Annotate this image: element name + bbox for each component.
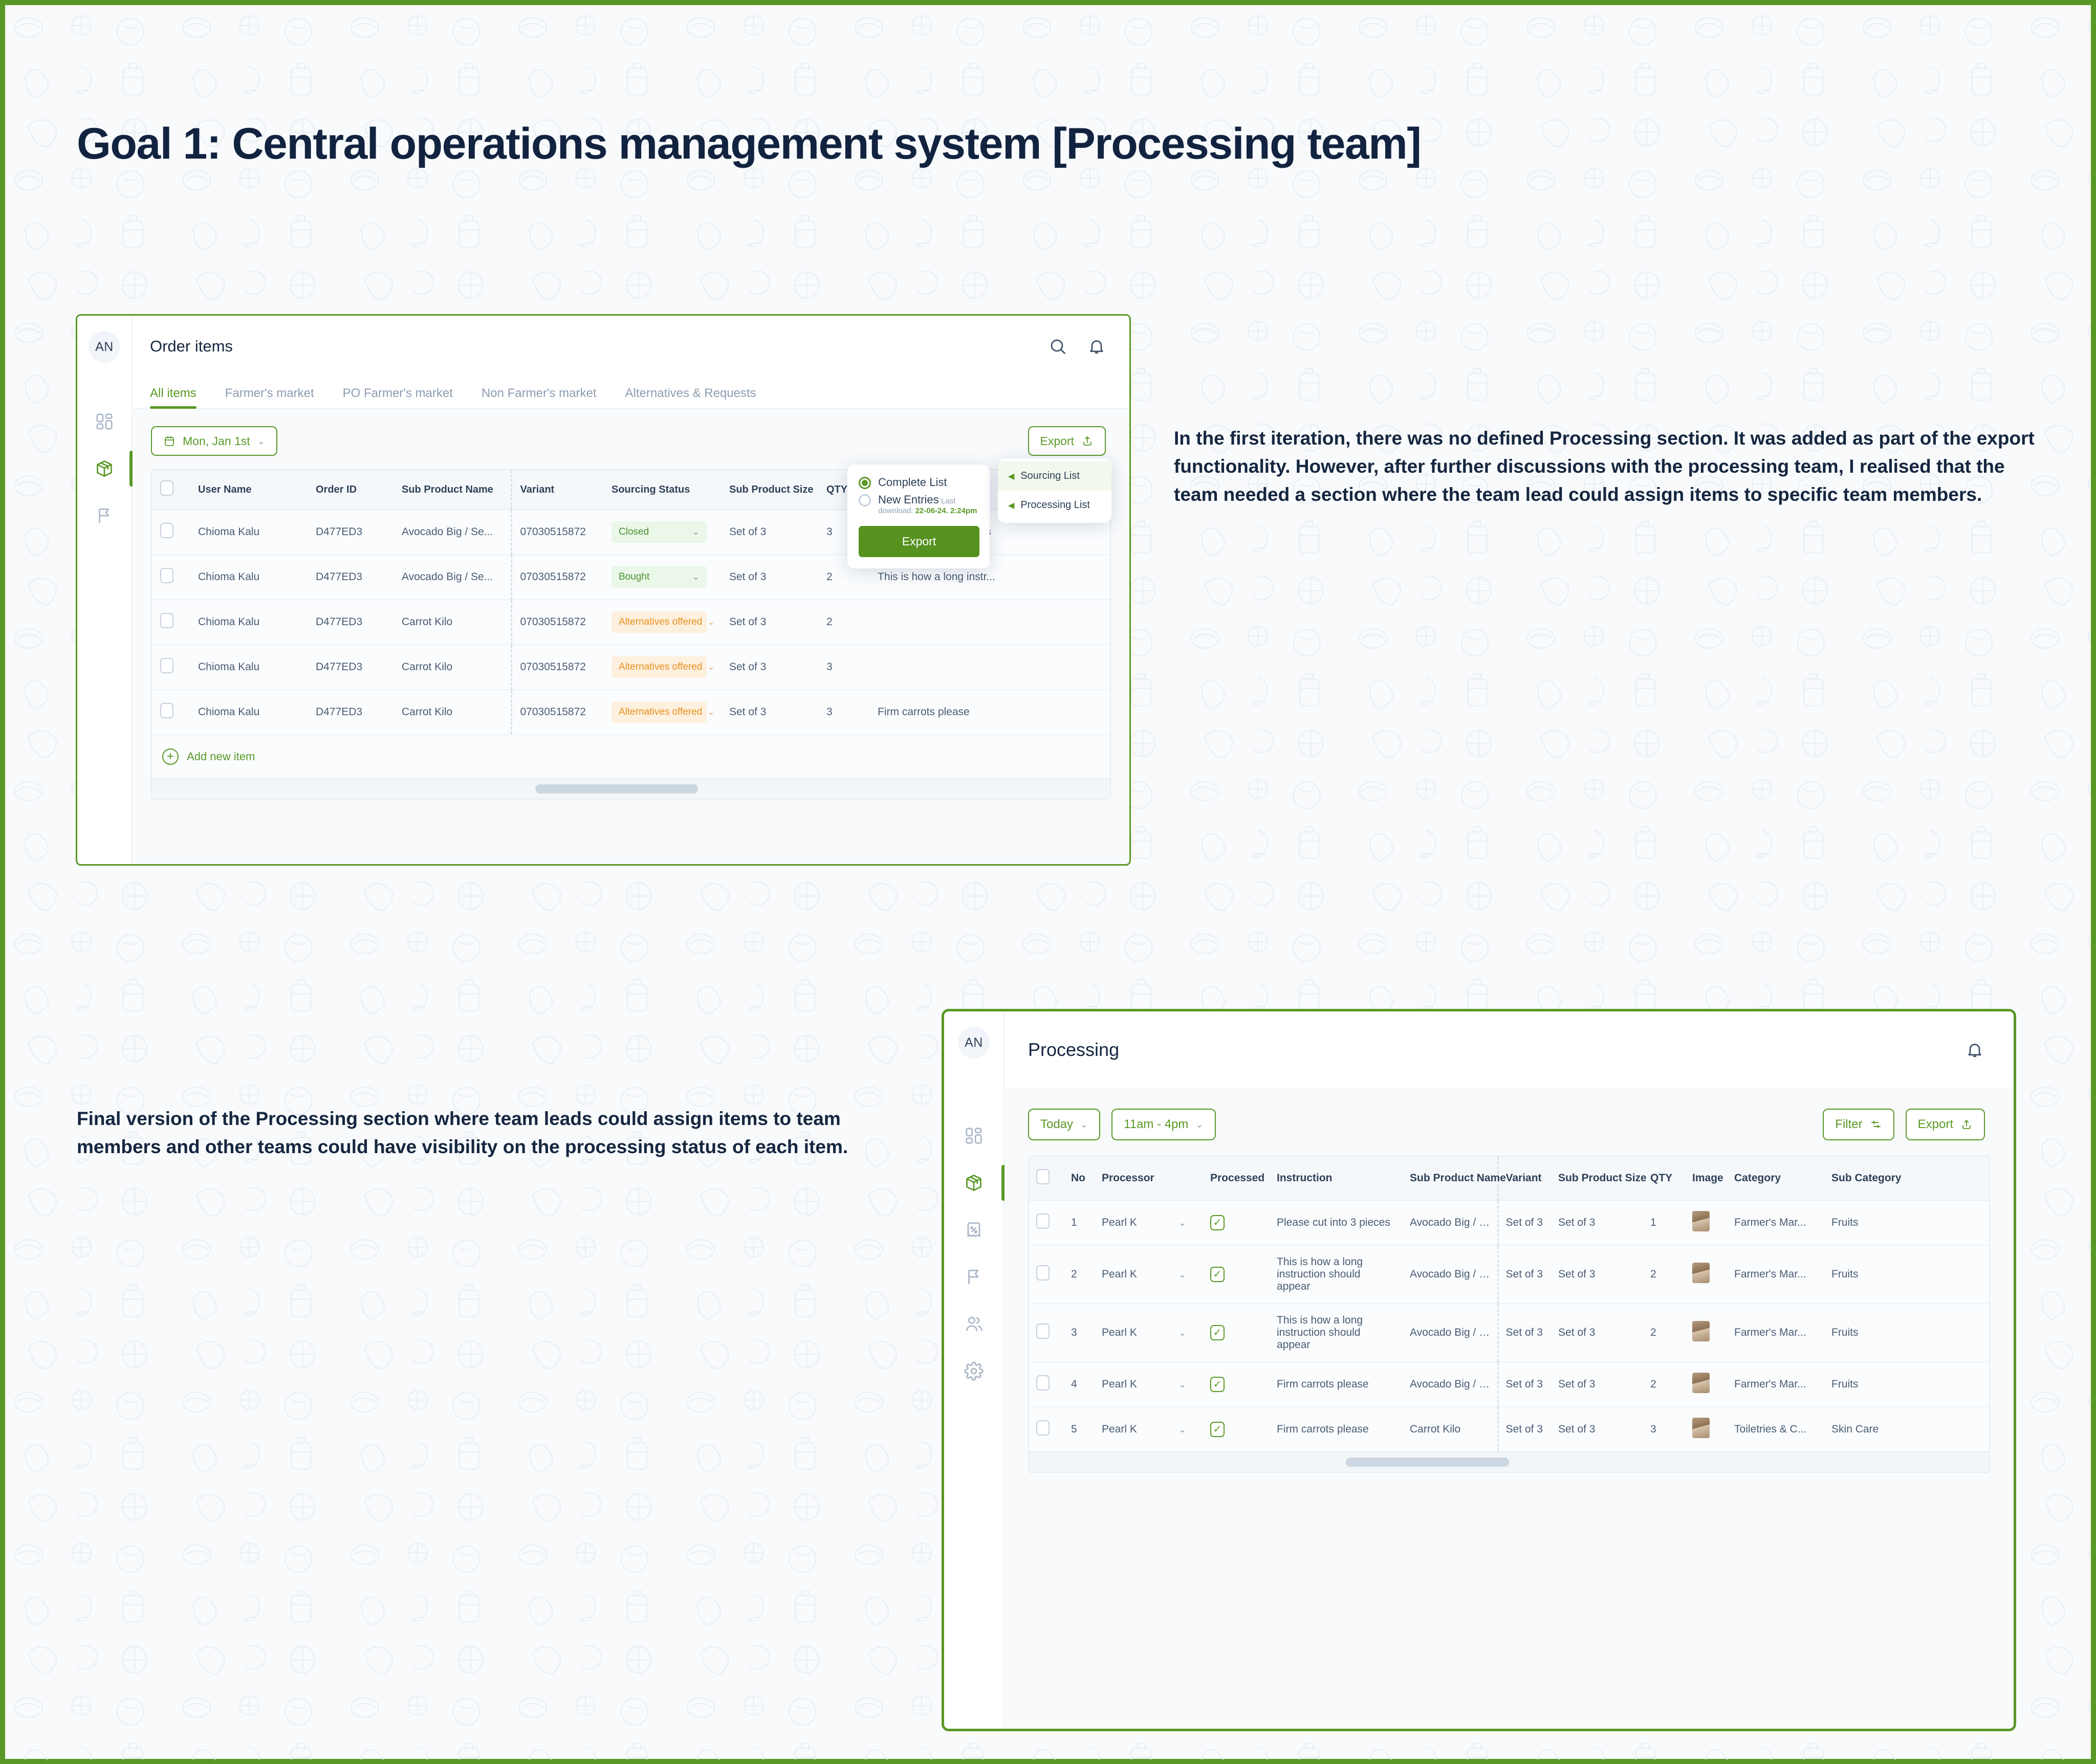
cell-no: 1: [1064, 1200, 1095, 1245]
scrollbar-thumb[interactable]: [1346, 1458, 1509, 1467]
col-qty: QTY: [1643, 1157, 1685, 1200]
menu-item-processing-list[interactable]: ◀ Processing List: [998, 491, 1111, 520]
description-final-version: Final version of the Processing section …: [77, 1105, 875, 1161]
add-new-item-label: Add new item: [187, 750, 255, 763]
row-checkbox[interactable]: [1036, 1375, 1050, 1391]
filter-sliders-icon: [1870, 1118, 1882, 1131]
table-row[interactable]: 5 Pearl K ⌄ ✓ Firm carrots please Carrot…: [1029, 1407, 1989, 1451]
cell-sub-product-name: Carrot Kilo: [394, 645, 511, 690]
avatar[interactable]: AN: [958, 1027, 990, 1059]
menu-item-label: Sourcing List: [1020, 470, 1080, 482]
settings-gear-icon: [964, 1361, 984, 1381]
status-badge[interactable]: Alternatives offered ⌄: [612, 701, 707, 723]
col-sourcing-status: Sourcing Status: [603, 470, 721, 510]
chevron-down-icon: ⌄: [707, 662, 714, 672]
col-instruction: Instruction: [1270, 1157, 1403, 1200]
order-items-main: Order items All items Farmer's market PO…: [133, 316, 1129, 864]
sidebar-item-flags[interactable]: [77, 506, 132, 525]
users-icon: [964, 1314, 984, 1334]
col-image: Image: [1685, 1157, 1727, 1200]
processing-table: No Processor Processed Instruction Sub P…: [1028, 1156, 1990, 1473]
cell-sub-product-name: Avocado Big / Se...: [1403, 1245, 1498, 1304]
cell-sub-product-name: Carrot Kilo: [394, 690, 511, 734]
radio-unselected-icon[interactable]: [859, 494, 871, 506]
sidebar-item-flags[interactable]: [944, 1267, 1003, 1287]
cell-sub-product-size: Set of 3: [1551, 1362, 1643, 1407]
chevron-down-icon: ⌄: [1178, 1328, 1186, 1338]
scrollbar-thumb[interactable]: [535, 784, 698, 793]
horizontal-scrollbar[interactable]: [152, 778, 1110, 799]
chevron-down-icon: ⌄: [1178, 1218, 1186, 1228]
row-checkbox-cell: [152, 555, 190, 600]
cell-no: 5: [1064, 1407, 1095, 1451]
order-items-header: Order items: [133, 316, 1129, 377]
flag-icon: [95, 506, 114, 525]
col-category: Category: [1727, 1157, 1824, 1200]
cell-sourcing-status[interactable]: Alternatives offered ⌄: [603, 645, 721, 690]
cell-variant: 07030515872: [511, 510, 603, 555]
cell-processor: Pearl K: [1095, 1245, 1171, 1304]
cell-variant: Set of 3: [1498, 1407, 1551, 1451]
row-checkbox-cell: [152, 510, 190, 555]
avatar[interactable]: AN: [89, 331, 120, 363]
select-all-checkbox[interactable]: [160, 480, 173, 496]
row-checkbox-cell: [1029, 1304, 1064, 1362]
cell-variant: Set of 3: [1498, 1362, 1551, 1407]
chevron-down-icon: ⌄: [1178, 1424, 1186, 1435]
processor-dropdown-caret[interactable]: ⌄: [1171, 1245, 1203, 1304]
cell-order-id: D477ED3: [308, 645, 394, 690]
cell-category: Farmer's Mar...: [1727, 1245, 1824, 1304]
date-filter-label: Mon, Jan 1st: [183, 434, 250, 448]
cell-sub-product-name: Carrot Kilo: [1403, 1407, 1498, 1451]
processing-toolbar: Today ⌄ 11am - 4pm ⌄ Filter Export: [1005, 1088, 2014, 1156]
tab-all-items[interactable]: All items: [150, 386, 196, 408]
cell-variant: Set of 3: [1498, 1304, 1551, 1362]
last-download-value: 22-06-24. 2:24pm: [915, 506, 977, 515]
cell-qty: 3: [1643, 1407, 1685, 1451]
product-thumbnail: [1692, 1263, 1710, 1283]
export-option-new-entries[interactable]: New Entries Last download: 22-06-24. 2:2…: [859, 493, 979, 516]
select-all-checkbox[interactable]: [1036, 1169, 1050, 1184]
row-checkbox-cell: [152, 690, 190, 734]
cell-order-id: D477ED3: [308, 510, 394, 555]
cell-image: [1685, 1362, 1727, 1407]
cell-instruction: Firm carrots please: [1270, 1362, 1403, 1407]
cell-image: [1685, 1200, 1727, 1245]
cell-sub-category: Skin Care: [1824, 1407, 1989, 1451]
cell-user-name: Chioma Kalu: [190, 600, 308, 645]
cell-sub-category: Fruits: [1824, 1304, 1989, 1362]
sidebar-item-settings[interactable]: [944, 1361, 1003, 1381]
upload-icon: [1960, 1118, 1973, 1131]
filter-button-label: Filter: [1835, 1117, 1862, 1132]
cell-qty: 1: [1643, 1200, 1685, 1245]
table-row[interactable]: 1 Pearl K ⌄ ✓ Please cut into 3 pieces A…: [1029, 1200, 1989, 1245]
row-checkbox[interactable]: [160, 523, 173, 538]
cell-processor: Pearl K: [1095, 1362, 1171, 1407]
table-row[interactable]: Chioma Kalu D477ED3 Carrot Kilo 07030515…: [152, 645, 1110, 690]
table-row[interactable]: 3 Pearl K ⌄ ✓ This is how a long instruc…: [1029, 1304, 1989, 1362]
table-header-row: No Processor Processed Instruction Sub P…: [1029, 1157, 1989, 1200]
status-label: Bought: [619, 571, 649, 583]
processed-checkbox-checked[interactable]: ✓: [1210, 1267, 1225, 1282]
chevron-down-icon: ⌄: [692, 572, 700, 582]
cell-variant: 07030515872: [511, 690, 603, 734]
cell-processor: Pearl K: [1095, 1304, 1171, 1362]
cell-variant: 07030515872: [511, 600, 603, 645]
export-button[interactable]: Export: [1906, 1109, 1985, 1140]
cell-sub-product-size: Set of 3: [1551, 1200, 1643, 1245]
status-badge[interactable]: Bought ⌄: [612, 566, 707, 588]
chevron-down-icon: ⌄: [1178, 1269, 1186, 1280]
processor-dropdown-caret[interactable]: ⌄: [1171, 1304, 1203, 1362]
chevron-down-icon: ⌄: [692, 527, 700, 537]
export-button[interactable]: Export: [1028, 426, 1106, 456]
cell-variant: 07030515872: [511, 645, 603, 690]
col-variant: Variant: [1498, 1157, 1551, 1200]
cell-sourcing-status[interactable]: Alternatives offered ⌄: [603, 600, 721, 645]
cell-instruction: Please cut into 3 pieces: [1270, 1200, 1403, 1245]
cell-instruction: [869, 645, 1110, 690]
cell-sub-product-name: Avocado Big / Se...: [394, 555, 511, 600]
processed-checkbox-checked[interactable]: ✓: [1210, 1422, 1225, 1437]
processor-dropdown-caret[interactable]: ⌄: [1171, 1200, 1203, 1245]
col-order-id: Order ID: [308, 470, 394, 510]
cell-sub-category: Fruits: [1824, 1200, 1989, 1245]
package-icon: [95, 459, 114, 478]
dashboard-grid-icon: [95, 412, 114, 431]
col-variant: Variant: [511, 470, 603, 510]
cell-sub-category: Fruits: [1824, 1362, 1989, 1407]
cell-sub-product-size: Set of 3: [1551, 1245, 1643, 1304]
cell-sub-category: Fruits: [1824, 1245, 1989, 1304]
processed-checkbox-checked[interactable]: ✓: [1210, 1325, 1225, 1340]
select-all-header: [152, 470, 190, 510]
processing-main: Processing Today ⌄ 11am - 4pm ⌄: [1005, 1011, 2014, 1729]
order-items-tabs: All items Farmer's market PO Farmer's ma…: [133, 377, 1129, 409]
cell-sub-product-size: Set of 3: [721, 510, 818, 555]
cell-sub-product-size: Set of 3: [721, 690, 818, 734]
cell-qty: 2: [1643, 1304, 1685, 1362]
processing-table-wrap: No Processor Processed Instruction Sub P…: [1005, 1156, 2014, 1729]
cell-sub-product-size: Set of 3: [721, 600, 818, 645]
cell-user-name: Chioma Kalu: [190, 645, 308, 690]
row-checkbox-cell: [152, 645, 190, 690]
cell-variant: Set of 3: [1498, 1200, 1551, 1245]
cell-user-name: Chioma Kalu: [190, 555, 308, 600]
cell-processed[interactable]: ✓: [1203, 1407, 1270, 1451]
cell-processor: Pearl K: [1095, 1407, 1171, 1451]
export-button-label: Export: [1040, 434, 1074, 448]
status-label: Alternatives offered: [619, 661, 702, 673]
row-checkbox[interactable]: [1036, 1324, 1050, 1339]
cell-sourcing-status[interactable]: Closed ⌄: [603, 510, 721, 555]
row-checkbox[interactable]: [160, 658, 173, 673]
bell-icon[interactable]: [1966, 1041, 1984, 1059]
export-list-menu: ◀ Sourcing List ◀ Processing List: [998, 458, 1111, 523]
cell-user-name: Chioma Kalu: [190, 510, 308, 555]
order-items-sidebar: AN: [77, 316, 133, 864]
cell-sub-product-name: Carrot Kilo: [394, 600, 511, 645]
flag-icon: [964, 1267, 984, 1287]
tab-alternatives-requests[interactable]: Alternatives & Requests: [625, 386, 756, 408]
upload-icon: [1081, 435, 1094, 447]
row-checkbox-cell: [152, 600, 190, 645]
export-option-complete-list[interactable]: Complete List: [859, 476, 979, 489]
chevron-down-icon: ⌄: [1195, 1119, 1203, 1130]
table-row[interactable]: Chioma Kalu D477ED3 Carrot Kilo 07030515…: [152, 600, 1110, 645]
cell-no: 2: [1064, 1245, 1095, 1304]
sidebar-item-discounts[interactable]: [944, 1220, 1003, 1240]
cell-processed[interactable]: ✓: [1203, 1304, 1270, 1362]
cell-order-id: D477ED3: [308, 690, 394, 734]
status-badge[interactable]: Alternatives offered ⌄: [612, 656, 707, 678]
col-sub-product-size: Sub Product Size: [721, 470, 818, 510]
sidebar-item-orders[interactable]: [77, 459, 132, 478]
row-checkbox-cell: [1029, 1245, 1064, 1304]
cell-sub-product-name: Avocado Big / Se...: [1403, 1304, 1498, 1362]
status-badge[interactable]: Alternatives offered ⌄: [612, 611, 707, 633]
col-sub-product-name: Sub Product Name: [394, 470, 511, 510]
cell-sourcing-status[interactable]: Alternatives offered ⌄: [603, 690, 721, 734]
cell-no: 4: [1064, 1362, 1095, 1407]
status-label: Closed: [619, 526, 649, 538]
bell-icon[interactable]: [1087, 337, 1106, 356]
day-filter-label: Today: [1040, 1117, 1073, 1132]
cell-category: Farmer's Mar...: [1727, 1304, 1824, 1362]
page-title: Goal 1: Central operations management sy…: [77, 119, 1421, 169]
cell-sourcing-status[interactable]: Bought ⌄: [603, 555, 721, 600]
cell-user-name: Chioma Kalu: [190, 690, 308, 734]
description-first-iteration: In the first iteration, there was no def…: [1174, 425, 2039, 509]
cell-sub-product-size: Set of 3: [1551, 1407, 1643, 1451]
search-icon[interactable]: [1049, 337, 1067, 356]
processed-checkbox-checked[interactable]: ✓: [1210, 1377, 1225, 1392]
row-checkbox[interactable]: [160, 703, 173, 718]
cell-sub-product-name: Avocado Big / Se...: [394, 510, 511, 555]
day-filter-button[interactable]: Today ⌄: [1028, 1109, 1100, 1140]
cell-sub-product-name: Avocado Big / Se...: [1403, 1200, 1498, 1245]
sidebar-item-dashboard[interactable]: [944, 1126, 1003, 1145]
processor-dropdown-caret[interactable]: ⌄: [1171, 1407, 1203, 1451]
tab-po-farmers-market[interactable]: PO Farmer's market: [343, 386, 453, 408]
cell-qty: 3: [818, 690, 869, 734]
chevron-down-icon: ⌄: [707, 617, 714, 627]
status-label: Alternatives offered: [619, 707, 702, 718]
chevron-down-icon: ⌄: [1178, 1379, 1186, 1390]
cell-sub-product-size: Set of 3: [1551, 1304, 1643, 1362]
page-root: Goal 1: Central operations management sy…: [5, 5, 2091, 1759]
cell-instruction: [869, 600, 1110, 645]
row-checkbox-cell: [1029, 1200, 1064, 1245]
product-thumbnail: [1692, 1418, 1710, 1438]
chevron-down-icon: ⌄: [257, 436, 265, 447]
sidebar-item-dashboard[interactable]: [77, 412, 132, 431]
processed-checkbox-checked[interactable]: ✓: [1210, 1215, 1225, 1230]
export-option-label: Complete List: [878, 476, 947, 489]
cell-instruction: This is how a long instruction should ap…: [1270, 1304, 1403, 1362]
chevron-down-icon: ⌄: [707, 707, 714, 717]
filter-button[interactable]: Filter: [1823, 1109, 1894, 1140]
radio-selected-icon[interactable]: [859, 477, 871, 489]
row-checkbox[interactable]: [160, 568, 173, 583]
horizontal-scrollbar[interactable]: [1029, 1451, 1989, 1472]
processing-sidebar: AN: [944, 1011, 1005, 1729]
table-row[interactable]: 4 Pearl K ⌄ ✓ Firm carrots please Avocad…: [1029, 1362, 1989, 1407]
menu-item-label: Processing List: [1020, 499, 1090, 511]
cell-category: Toiletries & C...: [1727, 1407, 1824, 1451]
add-new-item-button[interactable]: + Add new item: [152, 734, 1110, 778]
col-sub-category: Sub Category: [1824, 1157, 1989, 1200]
time-range-filter-button[interactable]: 11am - 4pm ⌄: [1111, 1109, 1215, 1140]
cell-no: 3: [1064, 1304, 1095, 1362]
col-processor: Processor: [1095, 1157, 1203, 1200]
col-sub-product-size: Sub Product Size: [1551, 1157, 1643, 1200]
export-button-label: Export: [1918, 1117, 1953, 1132]
table-row[interactable]: Chioma Kalu D477ED3 Carrot Kilo 07030515…: [152, 690, 1110, 734]
tab-non-farmers-market[interactable]: Non Farmer's market: [482, 386, 597, 408]
cell-processor: Pearl K: [1095, 1200, 1171, 1245]
cell-qty: 2: [818, 600, 869, 645]
cell-qty: 2: [1643, 1245, 1685, 1304]
popover-export-button[interactable]: Export: [859, 526, 979, 557]
calendar-icon: [163, 435, 176, 447]
processor-dropdown-caret[interactable]: ⌄: [1171, 1362, 1203, 1407]
cell-category: Farmer's Mar...: [1727, 1362, 1824, 1407]
export-option-label: New Entries: [878, 493, 939, 506]
chevron-down-icon: ⌄: [1080, 1119, 1088, 1130]
cell-variant: 07030515872: [511, 555, 603, 600]
cell-image: [1685, 1407, 1727, 1451]
product-thumbnail: [1692, 1211, 1710, 1231]
cell-order-id: D477ED3: [308, 555, 394, 600]
cell-order-id: D477ED3: [308, 600, 394, 645]
sidebar-item-team[interactable]: [944, 1314, 1003, 1334]
cell-sub-product-size: Set of 3: [721, 555, 818, 600]
cell-processed[interactable]: ✓: [1203, 1245, 1270, 1304]
sidebar-item-processing[interactable]: [944, 1173, 1003, 1193]
processing-header: Processing: [1005, 1011, 2014, 1088]
cell-image: [1685, 1245, 1727, 1304]
row-checkbox[interactable]: [1036, 1420, 1050, 1436]
select-all-header: [1029, 1157, 1064, 1200]
row-checkbox-cell: [1029, 1407, 1064, 1451]
processing-app-card: AN: [942, 1009, 2016, 1731]
product-thumbnail: [1692, 1373, 1710, 1393]
status-badge[interactable]: Closed ⌄: [612, 521, 707, 543]
cell-instruction: Firm carrots please: [869, 690, 1110, 734]
caret-left-icon: ◀: [1008, 471, 1014, 481]
cell-sub-product-size: Set of 3: [721, 645, 818, 690]
time-range-label: 11am - 4pm: [1124, 1117, 1188, 1132]
app-title: Processing: [1028, 1039, 1119, 1061]
col-no: No: [1064, 1157, 1095, 1200]
table-row[interactable]: 2 Pearl K ⌄ ✓ This is how a long instruc…: [1029, 1245, 1989, 1304]
cell-qty: 2: [1643, 1362, 1685, 1407]
menu-item-sourcing-list[interactable]: ◀ Sourcing List: [998, 461, 1111, 491]
package-icon: [964, 1173, 984, 1193]
row-checkbox[interactable]: [160, 613, 173, 628]
cell-variant: Set of 3: [1498, 1245, 1551, 1304]
cell-instruction: Firm carrots please: [1270, 1407, 1403, 1451]
cell-processed[interactable]: ✓: [1203, 1362, 1270, 1407]
col-user-name: User Name: [190, 470, 308, 510]
product-thumbnail: [1692, 1321, 1710, 1341]
caret-left-icon: ◀: [1008, 500, 1014, 511]
export-options-popover: Complete List New Entries Last download:…: [847, 465, 990, 568]
tab-farmers-market[interactable]: Farmer's market: [225, 386, 314, 408]
row-checkbox-cell: [1029, 1362, 1064, 1407]
plus-icon: +: [162, 748, 179, 765]
col-sub-product-name: Sub Product Name: [1403, 1157, 1498, 1200]
cell-image: [1685, 1304, 1727, 1362]
col-processed: Processed: [1203, 1157, 1270, 1200]
date-filter-button[interactable]: Mon, Jan 1st ⌄: [151, 426, 277, 456]
dashboard-grid-icon: [964, 1126, 984, 1145]
discount-tag-icon: [964, 1220, 984, 1240]
cell-instruction: This is how a long instruction should ap…: [1270, 1245, 1403, 1304]
cell-category: Farmer's Mar...: [1727, 1200, 1824, 1245]
cell-qty: 3: [818, 645, 869, 690]
row-checkbox[interactable]: [1036, 1265, 1050, 1281]
cell-processed[interactable]: ✓: [1203, 1200, 1270, 1245]
row-checkbox[interactable]: [1036, 1214, 1050, 1229]
app-title: Order items: [150, 337, 233, 356]
cell-sub-product-name: Avocado Big / Se...: [1403, 1362, 1498, 1407]
order-items-app-card: AN: [76, 314, 1131, 866]
order-items-toolbar: Mon, Jan 1st ⌄ Export: [133, 409, 1129, 469]
status-label: Alternatives offered: [619, 616, 702, 628]
